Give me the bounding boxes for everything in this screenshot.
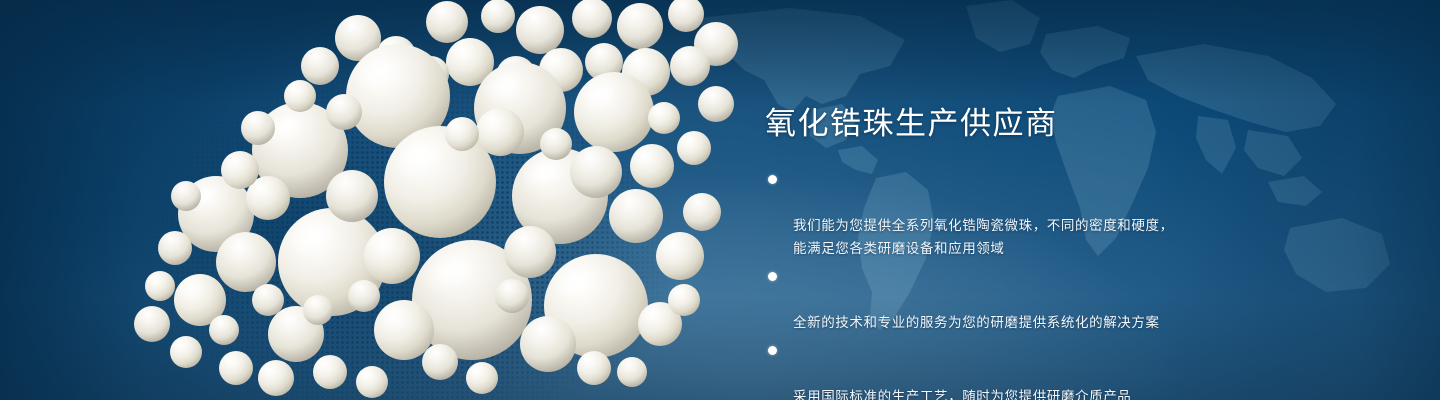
bullet-dot-icon <box>768 272 777 281</box>
hero-banner: 氧化锆珠生产供应商 我们能为您提供全系列氧化锆陶瓷微珠，不同的密度和硬度， 能满… <box>0 0 1440 400</box>
bullet-dot-icon <box>768 346 777 355</box>
bullet-dot-icon <box>768 175 777 184</box>
feature-list: 我们能为您提供全系列氧化锆陶瓷微珠，不同的密度和硬度， 能满足您各类研磨设备和应… <box>765 168 1385 400</box>
banner-copy: 氧化锆珠生产供应商 我们能为您提供全系列氧化锆陶瓷微珠，不同的密度和硬度， 能满… <box>765 104 1385 400</box>
list-item-label: 采用国际标准的生产工艺，随时为您提供研磨介质产品 <box>793 389 1131 400</box>
list-item: 我们能为您提供全系列氧化锆陶瓷微珠，不同的密度和硬度， 能满足您各类研磨设备和应… <box>765 168 1385 260</box>
list-item: 全新的技术和专业的服务为您的研磨提供系统化的解决方案 <box>765 265 1385 334</box>
zirconia-beads-photo <box>0 0 760 400</box>
list-item-label: 全新的技术和专业的服务为您的研磨提供系统化的解决方案 <box>793 315 1160 330</box>
list-item: 采用国际标准的生产工艺，随时为您提供研磨介质产品 <box>765 339 1385 400</box>
list-item-label: 我们能为您提供全系列氧化锆陶瓷微珠，不同的密度和硬度， 能满足您各类研磨设备和应… <box>793 218 1174 256</box>
page-title: 氧化锆珠生产供应商 <box>765 104 1385 144</box>
